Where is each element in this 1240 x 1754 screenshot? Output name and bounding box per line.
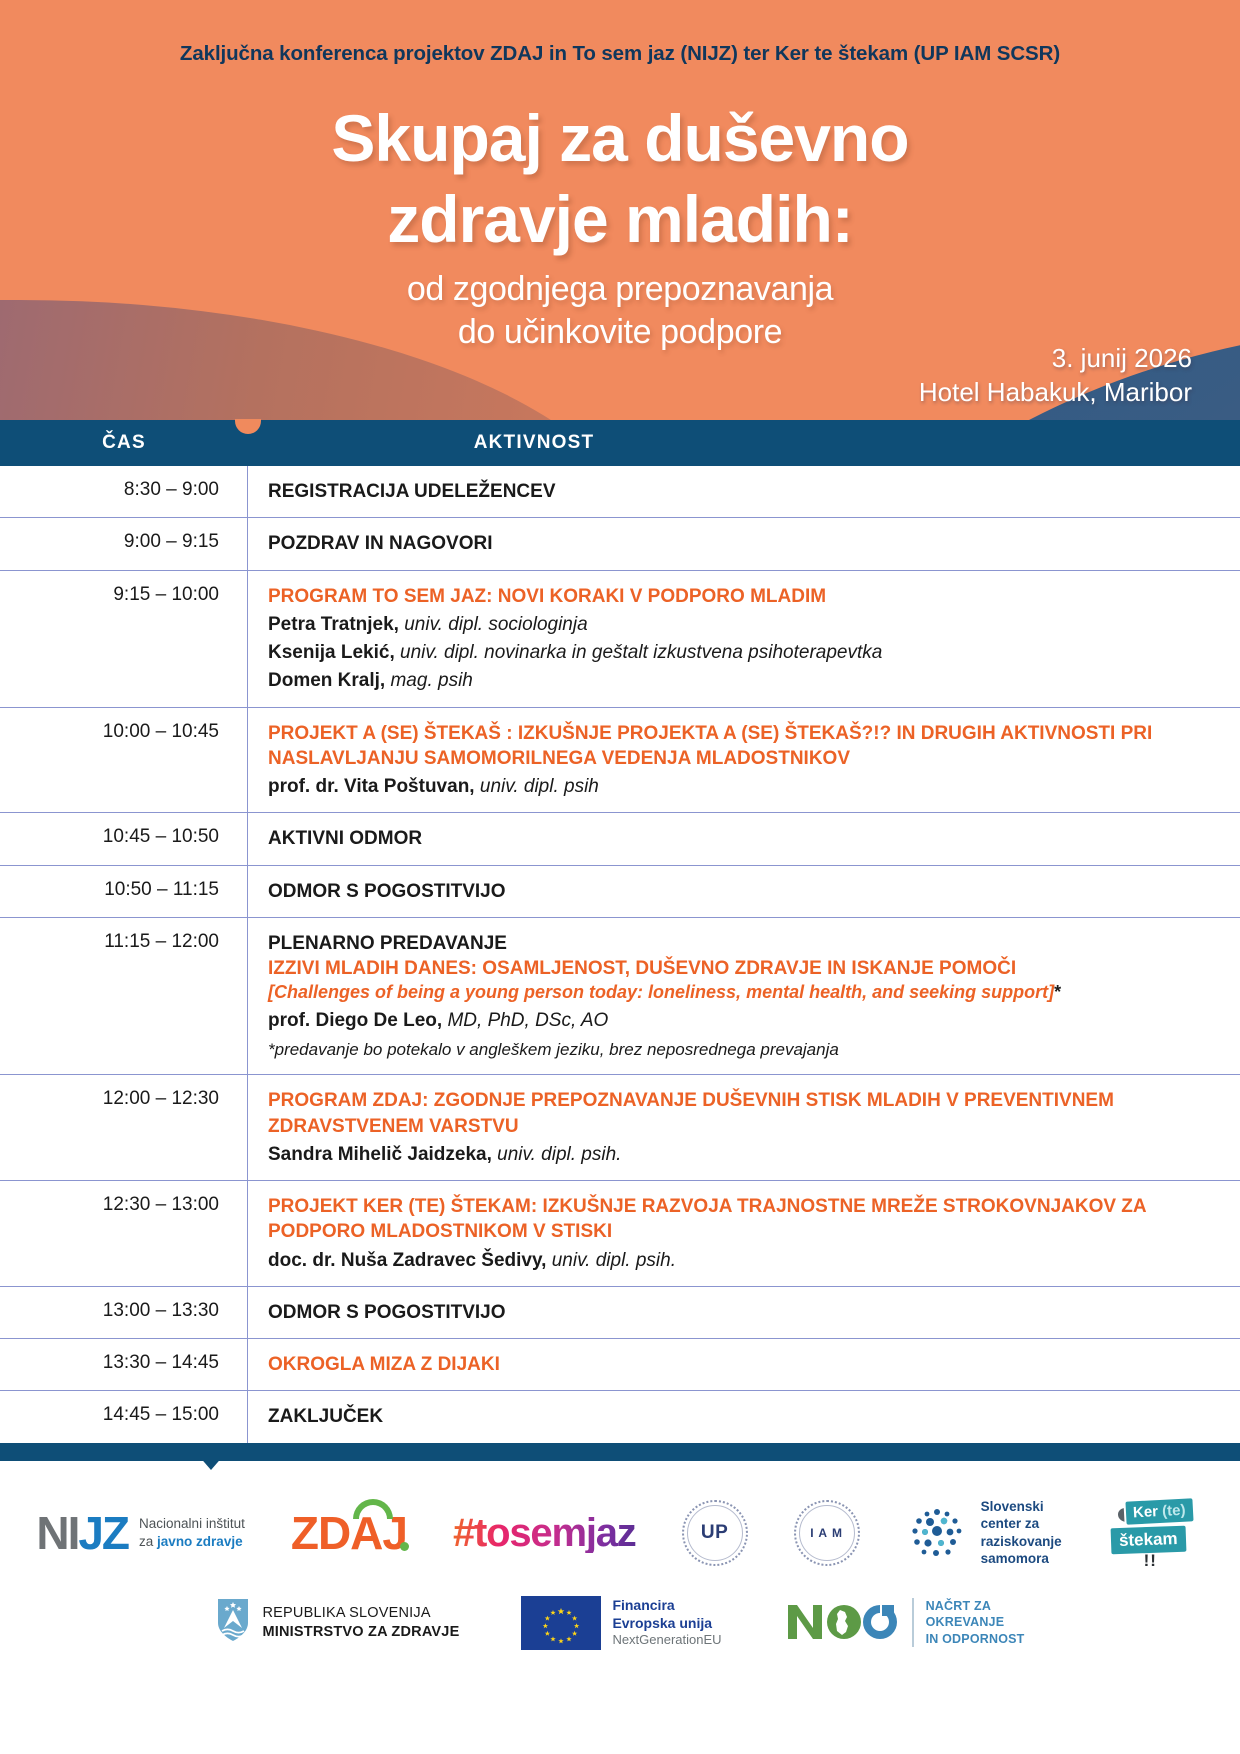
- nijz-tagline-bold: javno zdravje: [157, 1534, 243, 1549]
- table-row: 9:00 – 9:15POZDRAV IN NAGOVORI: [0, 518, 1240, 570]
- cell-activity: PROJEKT A (SE) ŠTEKAŠ : IZKUŠNJE PROJEKT…: [248, 708, 1240, 813]
- activity-title: ODMOR S POGOSTITVIJO: [268, 879, 1210, 904]
- ministry-name: REPUBLIKA SLOVENIJA MINISTRSTVO ZA ZDRAV…: [263, 1604, 460, 1642]
- noo-line-2: OKREVANJE: [926, 1614, 1025, 1631]
- noo-wordmark-icon: [784, 1597, 900, 1648]
- logo-ministry-of-health: REPUBLIKA SLOVENIJA MINISTRSTVO ZA ZDRAV…: [216, 1597, 460, 1648]
- logo-iam-seal: I A M: [794, 1500, 860, 1566]
- title-line-2: zdravje mladih:: [0, 179, 1240, 260]
- activity-title: POZDRAV IN NAGOVORI: [268, 531, 1210, 556]
- cell-time: 10:50 – 11:15: [0, 866, 248, 917]
- logo-up-seal: UP: [682, 1500, 748, 1566]
- scsr-name: Slovenski center za raziskovanje samomor…: [981, 1498, 1062, 1568]
- kts-bubble-top: Ker (te): [1123, 1496, 1195, 1527]
- poster-header: Zaključna konferenca projektov ZDAJ in T…: [0, 0, 1240, 420]
- logo-scsr: Slovenski center za raziskovanje samomor…: [906, 1498, 1062, 1568]
- activity-title: PLENARNO PREDAVANJE: [268, 931, 1210, 956]
- table-row: 8:30 – 9:00REGISTRACIJA UDELEŽENCEV: [0, 466, 1240, 518]
- presenter-title: univ. dipl. sociologinja: [399, 614, 588, 635]
- scsr-line-1: Slovenski: [981, 1498, 1062, 1516]
- page-subtitle: od zgodnjega prepoznavanja do učinkovite…: [0, 268, 1240, 354]
- subtitle-line-1: od zgodnjega prepoznavanja: [0, 268, 1240, 311]
- sponsor-logos: NIJZ Nacionalni inštitut za javno zdravj…: [0, 1461, 1240, 1661]
- activity-presenter: Domen Kralj, mag. psih: [268, 668, 1210, 693]
- eu-line-2: Evropska unija: [612, 1614, 721, 1632]
- event-date: 3. junij 2026: [919, 342, 1192, 376]
- nijz-tagline-line2: za javno zdravje: [139, 1533, 245, 1550]
- nijz-wordmark: NIJZ: [36, 1510, 128, 1556]
- cell-time: 9:15 – 10:00: [0, 571, 248, 707]
- kts-text-te: (te): [1161, 1501, 1185, 1519]
- nijz-tagline: Nacionalni inštitut za javno zdravje: [139, 1515, 245, 1550]
- cell-activity: PROGRAM TO SEM JAZ: NOVI KORAKI V PODPOR…: [248, 571, 1240, 707]
- noo-line-3: IN ODPORNOST: [926, 1631, 1025, 1648]
- activity-title: AKTIVNI ODMOR: [268, 826, 1210, 851]
- schedule-table-body: 8:30 – 9:00REGISTRACIJA UDELEŽENCEV9:00 …: [0, 466, 1240, 1443]
- column-header-time: ČAS: [0, 420, 248, 466]
- cell-time: 9:00 – 9:15: [0, 518, 248, 569]
- cell-activity: PROGRAM ZDAJ: ZGODNJE PREPOZNAVANJE DUŠE…: [248, 1075, 1240, 1180]
- logo-noo: NAČRT ZA OKREVANJE IN ODPORNOST: [784, 1597, 1025, 1648]
- logo-zdaj: ZDAJ: [291, 1510, 407, 1556]
- slovenia-coat-of-arms-icon: [216, 1597, 250, 1648]
- eu-flag-icon: [521, 1596, 601, 1650]
- presenter-name: Domen Kralj,: [268, 670, 385, 691]
- presenter-name: Petra Tratnjek,: [268, 614, 399, 635]
- logo-nijz: NIJZ Nacionalni inštitut za javno zdravj…: [36, 1510, 245, 1556]
- table-row: 12:30 – 13:00PROJEKT KER (TE) ŠTEKAM: IZ…: [0, 1181, 1240, 1287]
- eu-line-1: Financira: [612, 1596, 721, 1614]
- activity-title-highlight: PROGRAM ZDAJ: ZGODNJE PREPOZNAVANJE DUŠE…: [268, 1088, 1210, 1139]
- kts-exclamation-marks: !!: [1144, 1551, 1157, 1571]
- activity-presenter: doc. dr. Nuša Zadravec Šedivy, univ. dip…: [268, 1248, 1210, 1273]
- noo-tagline: NAČRT ZA OKREVANJE IN ODPORNOST: [912, 1598, 1025, 1648]
- event-venue: Hotel Habakuk, Maribor: [919, 376, 1192, 410]
- nijz-mark-gray: NI: [36, 1507, 78, 1559]
- ministry-line-1: REPUBLIKA SLOVENIJA: [263, 1604, 460, 1623]
- presenter-title: MD, PhD, DSc, AO: [442, 1010, 608, 1031]
- cell-time: 8:30 – 9:00: [0, 466, 248, 517]
- cell-time: 11:15 – 12:00: [0, 918, 248, 1074]
- cell-activity: OKROGLA MIZA Z DIJAKI: [248, 1339, 1240, 1390]
- cell-time: 12:00 – 12:30: [0, 1075, 248, 1180]
- zdaj-arc-icon: [353, 1499, 393, 1519]
- up-seal-label: UP: [682, 1500, 748, 1566]
- nijz-tagline-prefix: za: [139, 1534, 157, 1549]
- presenter-title: mag. psih: [385, 670, 473, 691]
- zdaj-dot-icon: [400, 1542, 409, 1551]
- presenter-name: Ksenija Lekić,: [268, 642, 395, 663]
- english-title-text: [Challenges of being a young person toda…: [268, 982, 1054, 1002]
- conference-program-poster: Zaključna konferenca projektov ZDAJ in T…: [0, 0, 1240, 1754]
- activity-title: ZAKLJUČEK: [268, 1404, 1210, 1429]
- activity-presenter: prof. Diego De Leo, MD, PhD, DSc, AO: [268, 1008, 1210, 1033]
- cell-time: 14:45 – 15:00: [0, 1391, 248, 1442]
- logo-tosemjaz: #tosemjaz: [453, 1513, 636, 1553]
- cell-activity: ODMOR S POGOSTITVIJO: [248, 1287, 1240, 1338]
- activity-title-highlight: PROJEKT A (SE) ŠTEKAŠ : IZKUŠNJE PROJEKT…: [268, 721, 1210, 772]
- table-row: 14:45 – 15:00ZAKLJUČEK: [0, 1391, 1240, 1442]
- activity-title-highlight: OKROGLA MIZA Z DIJAKI: [268, 1352, 1210, 1377]
- activity-presenter: Petra Tratnjek, univ. dipl. sociologinja: [268, 612, 1210, 637]
- cell-activity: PLENARNO PREDAVANJEIZZIVI MLADIH DANES: …: [248, 918, 1240, 1074]
- table-row: 13:30 – 14:45OKROGLA MIZA Z DIJAKI: [0, 1339, 1240, 1391]
- cell-time: 10:00 – 10:45: [0, 708, 248, 813]
- footnote-asterisk: *: [1054, 982, 1061, 1002]
- cell-activity: REGISTRACIJA UDELEŽENCEV: [248, 466, 1240, 517]
- cell-activity: ZAKLJUČEK: [248, 1391, 1240, 1442]
- cell-activity: PROJEKT KER (TE) ŠTEKAM: IZKUŠNJE RAZVOJ…: [248, 1181, 1240, 1286]
- footer-divider-bar: [0, 1443, 1240, 1461]
- scsr-line-2: center za: [981, 1515, 1062, 1533]
- cell-time: 13:30 – 14:45: [0, 1339, 248, 1390]
- table-row: 9:15 – 10:00PROGRAM TO SEM JAZ: NOVI KOR…: [0, 571, 1240, 708]
- conference-kicker: Zaključna konferenca projektov ZDAJ in T…: [0, 42, 1240, 66]
- table-row: 12:00 – 12:30PROGRAM ZDAJ: ZGODNJE PREPO…: [0, 1075, 1240, 1181]
- activity-title-highlight: IZZIVI MLADIH DANES: OSAMLJENOST, DUŠEVN…: [268, 956, 1210, 981]
- scsr-line-4: samomora: [981, 1550, 1062, 1568]
- presenter-name: Sandra Mihelič Jaidzeka,: [268, 1144, 492, 1165]
- ministry-line-2: MINISTRSTVO ZA ZDRAVJE: [263, 1623, 460, 1642]
- eu-funding-text: Financira Evropska unija NextGenerationE…: [612, 1596, 721, 1649]
- scsr-line-3: raziskovanje: [981, 1533, 1062, 1551]
- activity-title: ODMOR S POGOSTITVIJO: [268, 1300, 1210, 1325]
- presenter-title: univ. dipl. psih.: [546, 1250, 676, 1271]
- table-row: 10:45 – 10:50AKTIVNI ODMOR: [0, 813, 1240, 865]
- logo-european-union: Financira Evropska unija NextGenerationE…: [521, 1596, 721, 1650]
- activity-presenter: Ksenija Lekić, univ. dipl. novinarka in …: [268, 640, 1210, 665]
- table-row: 13:00 – 13:30ODMOR S POGOSTITVIJO: [0, 1287, 1240, 1339]
- footer-notch-decoration: [198, 1455, 224, 1470]
- table-row: 11:15 – 12:00PLENARNO PREDAVANJEIZZIVI M…: [0, 918, 1240, 1075]
- title-line-1: Skupaj za duševno: [0, 98, 1240, 179]
- nijz-tagline-line1: Nacionalni inštitut: [139, 1515, 245, 1532]
- presenter-title: univ. dipl. novinarka in geštalt izkustv…: [395, 642, 883, 663]
- cell-activity: AKTIVNI ODMOR: [248, 813, 1240, 864]
- table-row: 10:50 – 11:15ODMOR S POGOSTITVIJO: [0, 866, 1240, 918]
- cell-time: 13:00 – 13:30: [0, 1287, 248, 1338]
- activity-title-highlight: PROJEKT KER (TE) ŠTEKAM: IZKUŠNJE RAZVOJ…: [268, 1194, 1210, 1245]
- column-header-activity: AKTIVNOST: [248, 420, 1240, 466]
- iam-seal-label: I A M: [794, 1500, 860, 1566]
- cell-time: 12:30 – 13:00: [0, 1181, 248, 1286]
- activity-presenter: prof. dr. Vita Poštuvan, univ. dipl. psi…: [268, 774, 1210, 799]
- scsr-dot-cluster-icon: [906, 1502, 968, 1564]
- presenter-name: prof. Diego De Leo,: [268, 1010, 442, 1031]
- cell-activity: POZDRAV IN NAGOVORI: [248, 518, 1240, 569]
- presenter-name: doc. dr. Nuša Zadravec Šedivy,: [268, 1250, 546, 1271]
- activity-title: REGISTRACIJA UDELEŽENCEV: [268, 479, 1210, 504]
- noo-line-1: NAČRT ZA: [926, 1598, 1025, 1615]
- logo-row-primary: NIJZ Nacionalni inštitut za javno zdravj…: [0, 1487, 1240, 1579]
- presenter-title: univ. dipl. psih: [475, 776, 599, 797]
- presenter-title: univ. dipl. psih.: [492, 1144, 622, 1165]
- activity-footnote: *predavanje bo potekalo v angleškem jezi…: [268, 1039, 1210, 1062]
- nijz-mark-blue: JZ: [78, 1507, 128, 1559]
- activity-title-highlight: PROGRAM TO SEM JAZ: NOVI KORAKI V PODPOR…: [268, 584, 1210, 609]
- page-title: Skupaj za duševno zdravje mladih:: [0, 98, 1240, 259]
- eu-line-3: NextGenerationEU: [612, 1632, 721, 1649]
- activity-title-english: [Challenges of being a young person toda…: [268, 981, 1210, 1005]
- logo-row-secondary: REPUBLIKA SLOVENIJA MINISTRSTVO ZA ZDRAV…: [0, 1585, 1240, 1661]
- table-row: 10:00 – 10:45PROJEKT A (SE) ŠTEKAŠ : IZK…: [0, 708, 1240, 814]
- cell-activity: ODMOR S POGOSTITVIJO: [248, 866, 1240, 917]
- kts-text-ker: Ker: [1132, 1503, 1162, 1522]
- activity-presenter: Sandra Mihelič Jaidzeka, univ. dipl. psi…: [268, 1142, 1210, 1167]
- logo-ker-te-stekam: Ker (te) štekam !!: [1108, 1496, 1204, 1570]
- cell-time: 10:45 – 10:50: [0, 813, 248, 864]
- schedule-table-header: ČAS AKTIVNOST: [0, 420, 1240, 466]
- event-meta: 3. junij 2026 Hotel Habakuk, Maribor: [919, 342, 1192, 410]
- presenter-name: prof. dr. Vita Poštuvan,: [268, 776, 475, 797]
